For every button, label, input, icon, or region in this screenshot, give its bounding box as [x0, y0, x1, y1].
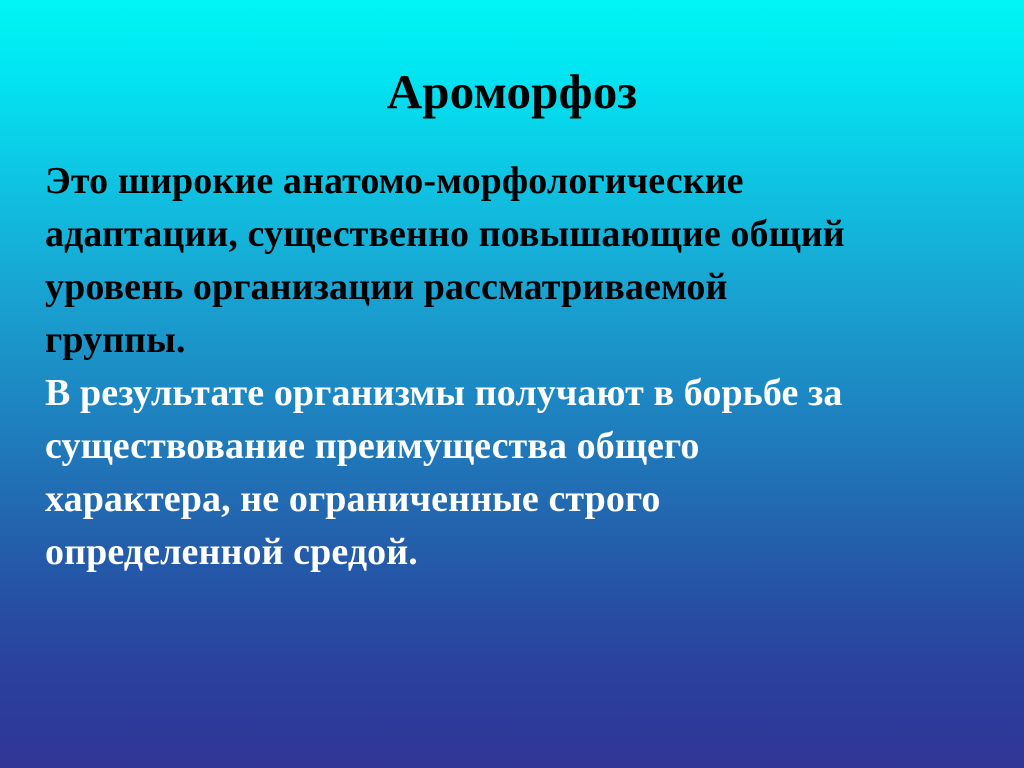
body-text-line: определенной средой.: [45, 526, 1005, 579]
body-text-line: существование преимущества общего: [45, 420, 1005, 473]
body-text-line: уровень организации рассматриваемой: [45, 261, 1005, 314]
body-text-line: В результате организмы получают в борьбе…: [45, 367, 1005, 420]
body-text-line: характера, не ограниченные строго: [45, 473, 1005, 526]
presentation-slide: Ароморфоз Это широкие анатомо-морфологич…: [0, 0, 1024, 768]
body-text-line: группы.: [45, 314, 1005, 367]
slide-title-container: Ароморфоз: [0, 64, 1024, 120]
body-text-line: адаптации, существенно повышающие общий: [45, 208, 1005, 261]
page-title: Ароморфоз: [387, 64, 638, 120]
slide-body-text: Это широкие анатомо-морфологические адап…: [45, 155, 1005, 579]
body-text-line: Это широкие анатомо-морфологические: [45, 155, 1005, 208]
